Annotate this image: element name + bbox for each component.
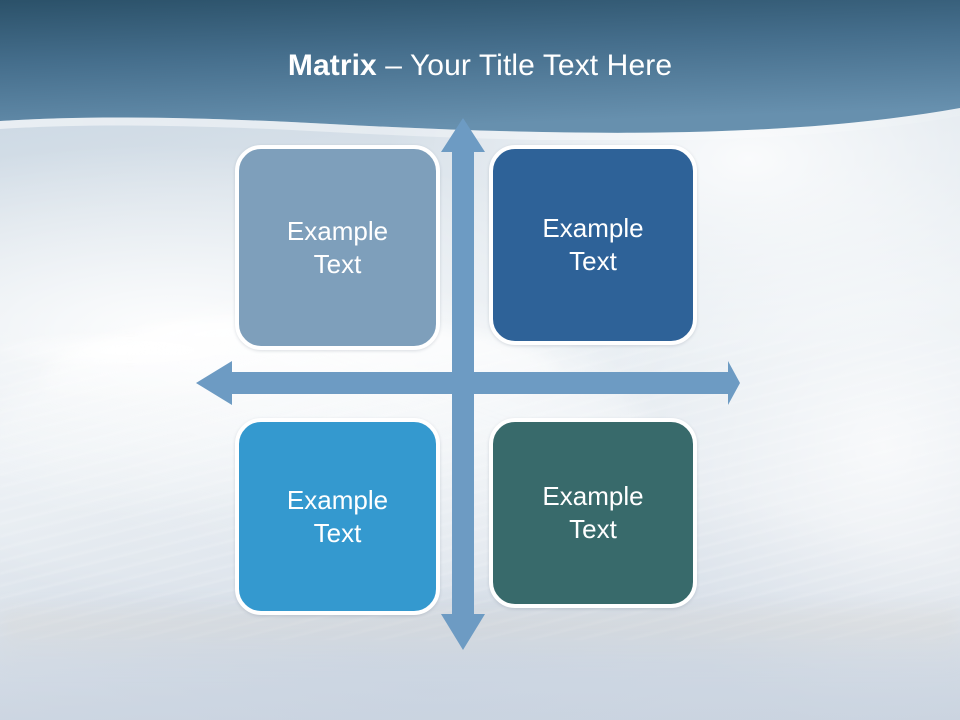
- quadrant-box-bottom-left[interactable]: ExampleText: [235, 418, 440, 615]
- quadrant-box-bottom-right[interactable]: ExampleText: [489, 418, 697, 608]
- quadrant-box-top-right[interactable]: ExampleText: [489, 145, 697, 345]
- quadrant-label-bottom-left: ExampleText: [267, 484, 409, 550]
- slide-title-bold: Matrix: [288, 49, 377, 82]
- slide-title-rest: – Your Title Text Here: [377, 49, 672, 82]
- quadrant-label-bottom-right: ExampleText: [521, 480, 665, 546]
- quadrant-box-top-left[interactable]: ExampleText: [235, 145, 440, 350]
- foreground-shade: [0, 590, 960, 720]
- slide-canvas: Matrix – Your Title Text Here ExampleTex…: [0, 0, 960, 720]
- quadrant-label-top-right: ExampleText: [521, 212, 665, 278]
- quadrant-label-top-left: ExampleText: [267, 215, 409, 281]
- slide-title: Matrix – Your Title Text Here: [0, 47, 960, 85]
